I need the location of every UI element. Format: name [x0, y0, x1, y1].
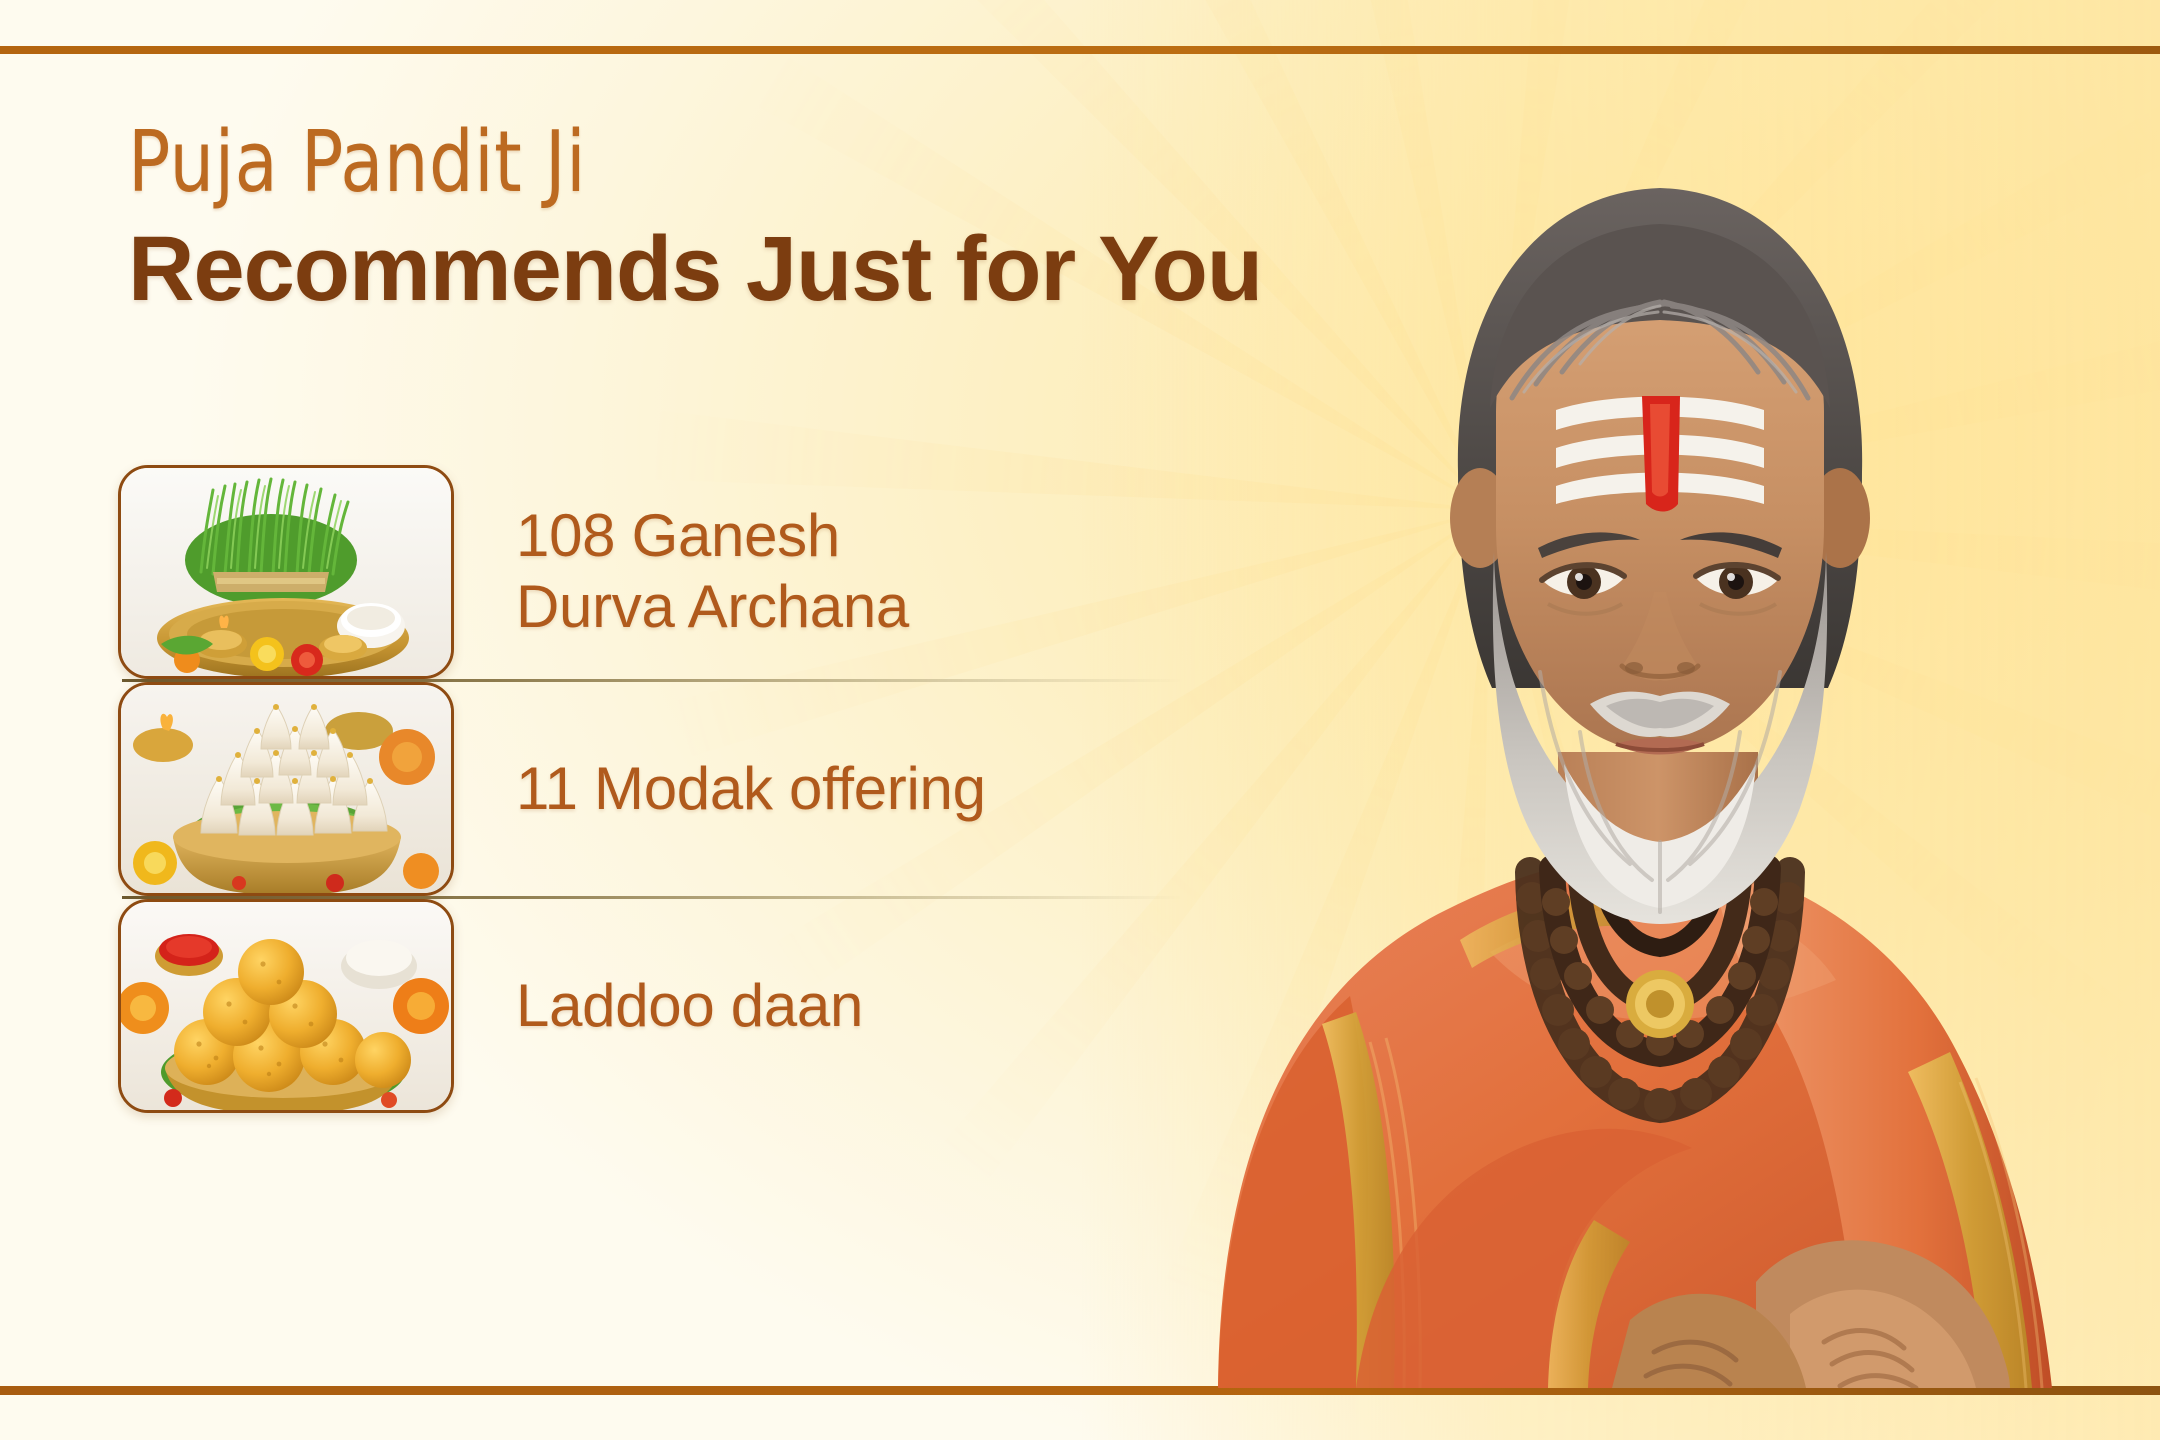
list-item-label: 11 Modak offering	[516, 754, 986, 825]
list-item-label: Laddoo daan	[516, 971, 863, 1042]
list-item[interactable]: 108 Ganesh Durva Archana	[118, 465, 1218, 679]
eyebrow-title: Puja Pandit Ji	[128, 120, 1103, 205]
modak-bowl-thumbnail	[118, 682, 454, 896]
recommendation-list: 108 Ganesh Durva Archana	[118, 465, 1218, 1113]
pandit-portrait	[1160, 52, 2160, 1388]
durva-grass-puja-thali-thumbnail	[118, 465, 454, 679]
promo-banner: Puja Pandit Ji Recommends Just for You	[0, 0, 2160, 1440]
heading-block: Puja Pandit Ji Recommends Just for You	[128, 120, 1188, 317]
list-item[interactable]: Laddoo daan	[118, 899, 1218, 1113]
list-item[interactable]: 11 Modak offering	[118, 682, 1218, 896]
laddoo-plate-thumbnail	[118, 899, 454, 1113]
page-title: Recommends Just for You	[128, 223, 1188, 317]
list-item-label: 108 Ganesh Durva Archana	[516, 501, 909, 643]
